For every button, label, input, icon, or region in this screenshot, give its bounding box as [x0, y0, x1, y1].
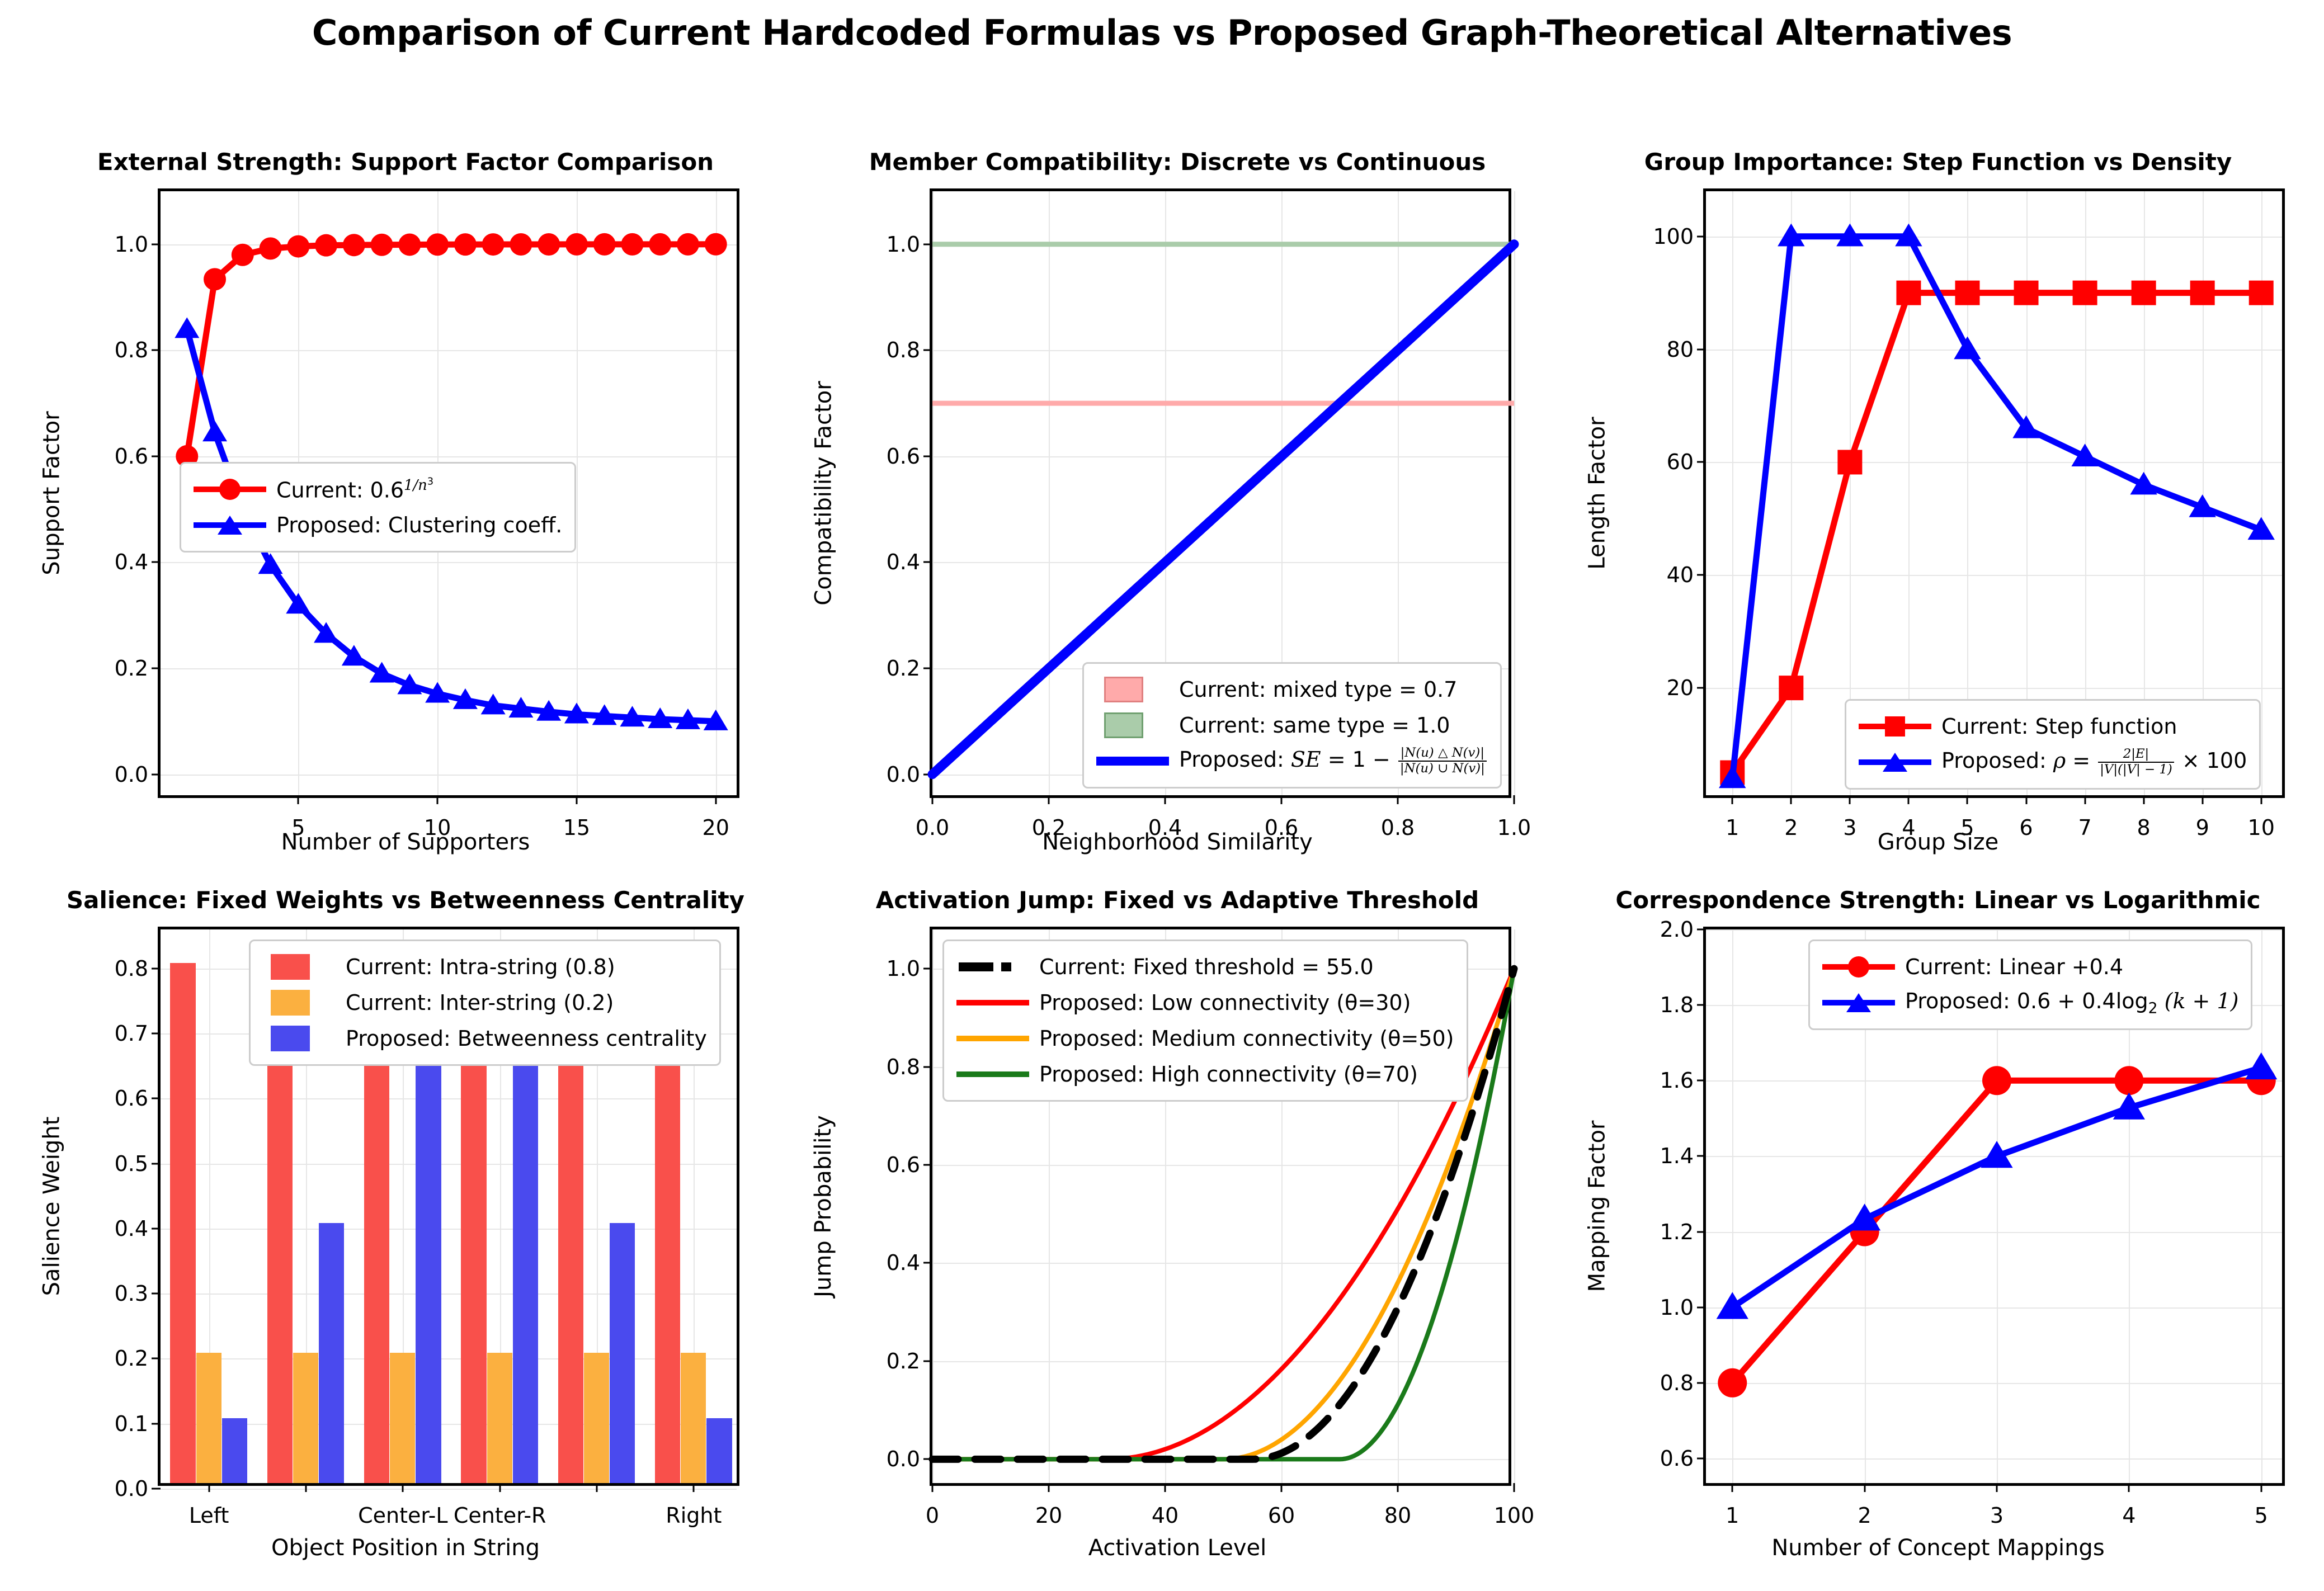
figure-suptitle: Comparison of Current Hardcoded Formulas…: [0, 12, 2324, 53]
y-tick: [152, 773, 161, 775]
x-tick-label: Right: [666, 1503, 722, 1528]
y-tick: [152, 1098, 161, 1099]
plot-area: 0.60.81.01.21.41.61.82.012345Current: Li…: [1703, 927, 2285, 1486]
y-tick: [1697, 1004, 1706, 1006]
panel-compatibility: Member Compatibility: Discrete vs Contin…: [805, 148, 1549, 858]
legend-label: Proposed: ρ = 2|E||V|(|V| − 1) × 100: [1941, 747, 2247, 777]
legend-key: [1822, 956, 1895, 978]
y-tick: [152, 1163, 161, 1164]
y-tick: [923, 1164, 932, 1166]
y-tick-label: 0.1: [115, 1411, 148, 1436]
y-tick-label: 1.6: [1660, 1068, 1694, 1093]
data-point-marker: [175, 317, 199, 338]
y-tick: [152, 1423, 161, 1424]
y-tick-label: 60: [1667, 450, 1694, 474]
data-point-marker: [202, 421, 227, 441]
legend-label: Current: Step function: [1941, 714, 2177, 739]
legend-label: Proposed: 0.6 + 0.4log2 (k + 1): [1905, 989, 2238, 1017]
legend-marker-shape: [219, 479, 241, 500]
legend-item[interactable]: Current: 0.61/n3: [194, 471, 562, 507]
y-tick-label: 20: [1667, 676, 1694, 700]
series-line: [1732, 1080, 2261, 1383]
y-tick-label: 0.4: [887, 550, 920, 574]
gridline-vertical: [1514, 929, 1515, 1483]
data-point-marker: [315, 234, 337, 257]
legend-label: Current: Linear +0.4: [1905, 955, 2123, 979]
legend-marker: [219, 479, 241, 500]
data-point-marker: [287, 235, 309, 258]
y-axis-label: Length Factor: [1584, 417, 1610, 569]
y-tick: [152, 561, 161, 563]
plot-area: 0.00.20.40.60.81.05101520Current: 0.61/n…: [158, 188, 739, 798]
y-tick-label: 1.0: [887, 956, 920, 981]
data-point-marker: [258, 553, 283, 574]
legend-line: [1096, 757, 1169, 766]
legend-label: Proposed: Betweenness centrality: [346, 1026, 707, 1051]
x-tick-label: Center-L: [358, 1503, 447, 1528]
y-tick-label: 1.2: [1660, 1220, 1694, 1244]
legend-key: [1822, 992, 1895, 1014]
legend-key: [956, 1063, 1029, 1085]
plot-area: 0.00.20.40.60.81.0020406080100Current: F…: [930, 927, 1511, 1486]
y-tick: [923, 968, 932, 970]
y-tick: [1697, 1155, 1706, 1157]
legend-key: [1859, 751, 1931, 773]
y-tick: [1697, 574, 1706, 576]
legend-key: [1859, 715, 1931, 738]
y-tick: [152, 1488, 161, 1490]
y-tick-label: 0.0: [887, 1447, 920, 1471]
x-axis-label: Activation Level: [805, 1535, 1549, 1561]
plot-area: 0.00.10.20.30.40.50.60.70.8LeftCenter-LC…: [158, 927, 739, 1486]
y-tick-label: 0.3: [115, 1281, 148, 1306]
y-tick-label: 0.8: [887, 338, 920, 362]
data-point-marker: [371, 234, 393, 256]
data-point-marker: [2245, 1052, 2277, 1079]
panel-activation-jump: Activation Jump: Fixed vs Adaptive Thres…: [805, 886, 1549, 1585]
data-point-marker: [649, 233, 671, 256]
figure-canvas: Comparison of Current Hardcoded Formulas…: [0, 0, 2324, 1591]
y-tick: [923, 1262, 932, 1264]
legend-item[interactable]: Current: Fixed threshold = 55.0: [956, 949, 1454, 985]
legend-label: Current: 0.61/n3: [276, 476, 433, 502]
data-point-marker: [1717, 1292, 1748, 1319]
x-axis-label: Neighborhood Similarity: [805, 829, 1549, 855]
y-tick-label: 0.0: [115, 1476, 148, 1501]
y-tick-label: 2.0: [1660, 917, 1694, 942]
x-tick-label: 5: [2255, 1503, 2268, 1528]
y-tick: [1697, 1231, 1706, 1233]
data-point-marker: [398, 233, 421, 256]
y-tick-label: 0.6: [1660, 1446, 1694, 1471]
legend-line: [956, 1071, 1029, 1077]
y-tick-label: 0.4: [115, 1216, 148, 1241]
data-point-marker: [2249, 281, 2274, 305]
data-point-marker: [2114, 1066, 2143, 1095]
legend-line: [956, 1036, 1029, 1041]
plot-area: 0.00.20.40.60.81.00.00.20.40.60.81.0Curr…: [930, 188, 1511, 798]
data-point-marker: [1955, 281, 1979, 305]
y-tick-label: 40: [1667, 563, 1694, 587]
y-tick: [152, 967, 161, 969]
legend: Current: 0.61/n3Proposed: Clustering coe…: [180, 462, 576, 553]
legend-item[interactable]: Current: Inter-string (0.2): [263, 985, 707, 1021]
y-tick: [152, 350, 161, 351]
legend-item[interactable]: Current: mixed type = 0.7: [1096, 672, 1488, 707]
panel-group-importance: Group Importance: Step Function vs Densi…: [1566, 148, 2310, 858]
panel-title: Group Importance: Step Function vs Densi…: [1566, 148, 2310, 176]
legend-color-patch: [271, 990, 310, 1016]
panel-title: Member Compatibility: Discrete vs Contin…: [805, 148, 1549, 176]
y-tick: [923, 668, 932, 669]
legend-item[interactable]: Current: Step function: [1859, 709, 2247, 744]
x-axis-label: Number of Supporters: [34, 829, 777, 855]
y-tick-label: 0.8: [115, 338, 148, 362]
y-tick: [1697, 1080, 1706, 1082]
legend-marker: [1883, 753, 1907, 772]
data-point-marker: [593, 233, 616, 256]
data-point-marker: [1718, 1368, 1747, 1398]
y-tick: [1697, 1457, 1706, 1459]
y-tick: [1697, 929, 1706, 931]
legend: Current: Fixed threshold = 55.0Proposed:…: [942, 940, 1468, 1102]
legend-key: [263, 1027, 336, 1050]
legend-marker-shape: [218, 516, 242, 535]
legend-dash-segment: [1001, 962, 1011, 971]
legend: Current: Step functionProposed: ρ = 2|E|…: [1845, 699, 2261, 790]
y-tick-label: 1.0: [115, 232, 148, 257]
y-tick-label: 0.2: [887, 656, 920, 681]
legend-label: Current: mixed type = 0.7: [1179, 677, 1457, 702]
legend-key: [1096, 750, 1169, 772]
legend-item[interactable]: Proposed: Medium connectivity (θ=50): [956, 1021, 1454, 1056]
x-tick-label: 80: [1384, 1503, 1411, 1528]
y-tick-label: 0.2: [887, 1349, 920, 1373]
y-tick: [1697, 461, 1706, 463]
data-point-marker: [1779, 676, 1803, 700]
legend-label: Proposed: SE = 1 − |N(u) △ N(v)||N(u) ∪ …: [1179, 746, 1488, 776]
legend-item[interactable]: Proposed: High connectivity (θ=70): [956, 1056, 1454, 1092]
series-line: [187, 244, 715, 456]
y-tick: [152, 455, 161, 457]
legend-marker-shape: [1885, 716, 1905, 737]
series-line: [1732, 237, 2261, 778]
y-tick: [152, 1293, 161, 1295]
x-tick-label: Left: [189, 1503, 229, 1528]
data-point-marker: [510, 233, 532, 256]
y-axis-label: Compatibility Factor: [810, 381, 836, 605]
legend-key: [194, 478, 266, 501]
y-tick-label: 0.8: [1660, 1371, 1694, 1395]
data-point-marker: [677, 233, 699, 256]
y-tick: [1697, 1306, 1706, 1308]
legend-color-patch: [271, 954, 310, 980]
y-tick-label: 0.6: [887, 444, 920, 469]
legend-key: [956, 992, 1029, 1014]
y-tick: [152, 1228, 161, 1229]
legend-key: [1096, 714, 1169, 737]
x-tick-label: 2: [1858, 1503, 1872, 1528]
legend-label: Proposed: Low connectivity (θ=30): [1039, 990, 1411, 1015]
y-tick-label: 0.6: [115, 444, 148, 469]
y-axis-label: Salience Weight: [39, 1117, 64, 1296]
y-tick: [152, 1358, 161, 1359]
legend-item[interactable]: Proposed: SE = 1 − |N(u) △ N(v)||N(u) ∪ …: [1096, 743, 1488, 779]
x-tick-label: 0: [926, 1503, 939, 1528]
data-point-marker: [2190, 281, 2215, 305]
legend-key: [263, 992, 336, 1014]
y-tick: [923, 1066, 932, 1068]
y-axis-label: Jump Probability: [810, 1115, 836, 1297]
legend-key: [1096, 678, 1169, 701]
legend-marker: [1848, 956, 1869, 978]
data-point-marker: [565, 233, 588, 256]
x-tick-label: 40: [1152, 1503, 1179, 1528]
x-tick-label: 100: [1494, 1503, 1535, 1528]
legend: Current: Linear +0.4Proposed: 0.6 + 0.4l…: [1808, 940, 2252, 1030]
data-point-marker: [204, 268, 226, 290]
data-point-marker: [2014, 281, 2039, 305]
series-line: [1732, 1068, 2261, 1307]
y-tick-label: 0.6: [115, 1086, 148, 1111]
data-point-marker: [343, 234, 365, 256]
legend-label: Current: Inter-string (0.2): [346, 990, 614, 1015]
y-tick-label: 0.4: [115, 550, 148, 574]
y-tick-label: 100: [1653, 224, 1694, 249]
y-tick-label: 0.8: [115, 956, 148, 981]
data-point-marker: [705, 233, 727, 256]
legend: Current: mixed type = 0.7Current: same t…: [1082, 662, 1502, 789]
y-tick-label: 1.8: [1660, 993, 1694, 1017]
legend-item[interactable]: Current: Intra-string (0.8): [263, 949, 707, 985]
y-tick: [1697, 348, 1706, 350]
legend-item[interactable]: Proposed: 0.6 + 0.4log2 (k + 1): [1822, 985, 2238, 1021]
legend-item[interactable]: Proposed: Low connectivity (θ=30): [956, 985, 1454, 1021]
x-tick-label: 4: [2122, 1503, 2136, 1528]
x-tick-label: 20: [1035, 1503, 1062, 1528]
y-tick-label: 1.0: [887, 232, 920, 257]
data-point-marker: [2073, 281, 2097, 305]
x-axis-label: Group Size: [1566, 829, 2310, 855]
data-point-marker: [482, 233, 505, 256]
data-point-marker: [1896, 281, 1921, 305]
legend-label: Current: Fixed threshold = 55.0: [1039, 955, 1374, 979]
legend-label: Proposed: Medium connectivity (θ=50): [1039, 1026, 1454, 1051]
x-axis-label: Number of Concept Mappings: [1566, 1535, 2310, 1561]
legend-item[interactable]: Current: same type = 1.0: [1096, 707, 1488, 743]
data-point-marker: [260, 237, 282, 259]
y-tick: [1697, 235, 1706, 237]
y-tick: [923, 243, 932, 245]
legend-marker-shape: [1846, 993, 1871, 1012]
y-tick-label: 0.0: [887, 762, 920, 787]
y-tick: [923, 350, 932, 351]
panel-title: Activation Jump: Fixed vs Adaptive Thres…: [805, 886, 1549, 914]
y-tick-label: 0.4: [887, 1250, 920, 1275]
legend-color-patch: [1104, 677, 1143, 702]
legend-item[interactable]: Current: Linear +0.4: [1822, 949, 2238, 985]
legend-marker-shape: [1883, 753, 1907, 772]
y-tick: [923, 455, 932, 457]
legend-marker: [1846, 993, 1871, 1012]
y-axis-label: Mapping Factor: [1584, 1121, 1610, 1292]
y-tick: [152, 668, 161, 669]
y-axis-label: Support Factor: [39, 411, 64, 575]
y-tick: [923, 561, 932, 563]
gridline-horizontal: [161, 1489, 737, 1490]
x-tick-label: Center-R: [454, 1503, 546, 1528]
x-tick-label: 3: [1990, 1503, 2004, 1528]
x-tick-label: 1: [1726, 1503, 1739, 1528]
panel-title: Correspondence Strength: Linear vs Logar…: [1566, 886, 2310, 914]
legend-key: [956, 956, 1029, 978]
legend-item[interactable]: Proposed: Clustering coeff.: [194, 507, 562, 543]
y-tick: [152, 1033, 161, 1035]
y-tick: [152, 243, 161, 245]
y-tick-label: 80: [1667, 337, 1694, 362]
legend-key: [194, 514, 266, 536]
y-tick-label: 0.6: [887, 1153, 920, 1177]
data-point-marker: [1837, 450, 1862, 474]
legend-item[interactable]: Proposed: Betweenness centrality: [263, 1021, 707, 1056]
x-tick-label: 60: [1268, 1503, 1295, 1528]
legend-key: [263, 956, 336, 978]
plot-area: 2040608010012345678910Current: Step func…: [1703, 188, 2285, 798]
gridline-vertical: [1514, 191, 1515, 795]
panel-salience: Salience: Fixed Weights vs Betweenness C…: [34, 886, 777, 1585]
legend-marker: [1885, 716, 1905, 737]
y-tick-label: 0.8: [887, 1055, 920, 1079]
legend-dash-segment: [959, 962, 993, 971]
y-tick-label: 0.7: [115, 1021, 148, 1046]
data-point-marker: [426, 233, 449, 256]
y-tick-label: 0.2: [115, 656, 148, 681]
panel-title: Salience: Fixed Weights vs Betweenness C…: [34, 886, 777, 914]
legend-label: Current: Intra-string (0.8): [346, 955, 615, 979]
y-tick: [1697, 1382, 1706, 1384]
data-point-marker: [2132, 281, 2156, 305]
y-tick: [923, 1360, 932, 1362]
panel-support-factor: External Strength: Support Factor Compar…: [34, 148, 777, 858]
legend-label: Current: same type = 1.0: [1179, 713, 1450, 738]
y-tick-label: 1.4: [1660, 1144, 1694, 1168]
data-point-marker: [454, 233, 477, 256]
data-point-marker: [538, 233, 560, 256]
data-point-marker: [1982, 1066, 2011, 1095]
legend-marker: [218, 516, 242, 535]
y-tick-label: 0.2: [115, 1346, 148, 1371]
y-tick-label: 1.0: [1660, 1295, 1694, 1320]
legend: Current: Intra-string (0.8)Current: Inte…: [249, 940, 721, 1066]
legend-marker-shape: [1848, 956, 1869, 978]
y-tick: [1697, 687, 1706, 689]
x-axis-label: Object Position in String: [34, 1535, 777, 1561]
data-point-marker: [621, 233, 643, 256]
legend-color-patch: [271, 1026, 310, 1051]
data-point-marker: [1954, 336, 1981, 359]
legend-label: Proposed: Clustering coeff.: [276, 513, 562, 537]
data-point-marker: [232, 244, 254, 266]
panel-title: External Strength: Support Factor Compar…: [34, 148, 777, 176]
legend-item[interactable]: Proposed: ρ = 2|E||V|(|V| − 1) × 100: [1859, 744, 2247, 780]
legend-label: Proposed: High connectivity (θ=70): [1039, 1062, 1418, 1087]
y-tick-label: 0.0: [115, 762, 148, 787]
legend-line: [956, 1000, 1029, 1005]
legend-color-patch: [1104, 712, 1143, 738]
legend-key: [956, 1027, 1029, 1050]
y-tick-label: 0.5: [115, 1151, 148, 1176]
panel-correspondence: Correspondence Strength: Linear vs Logar…: [1566, 886, 2310, 1585]
